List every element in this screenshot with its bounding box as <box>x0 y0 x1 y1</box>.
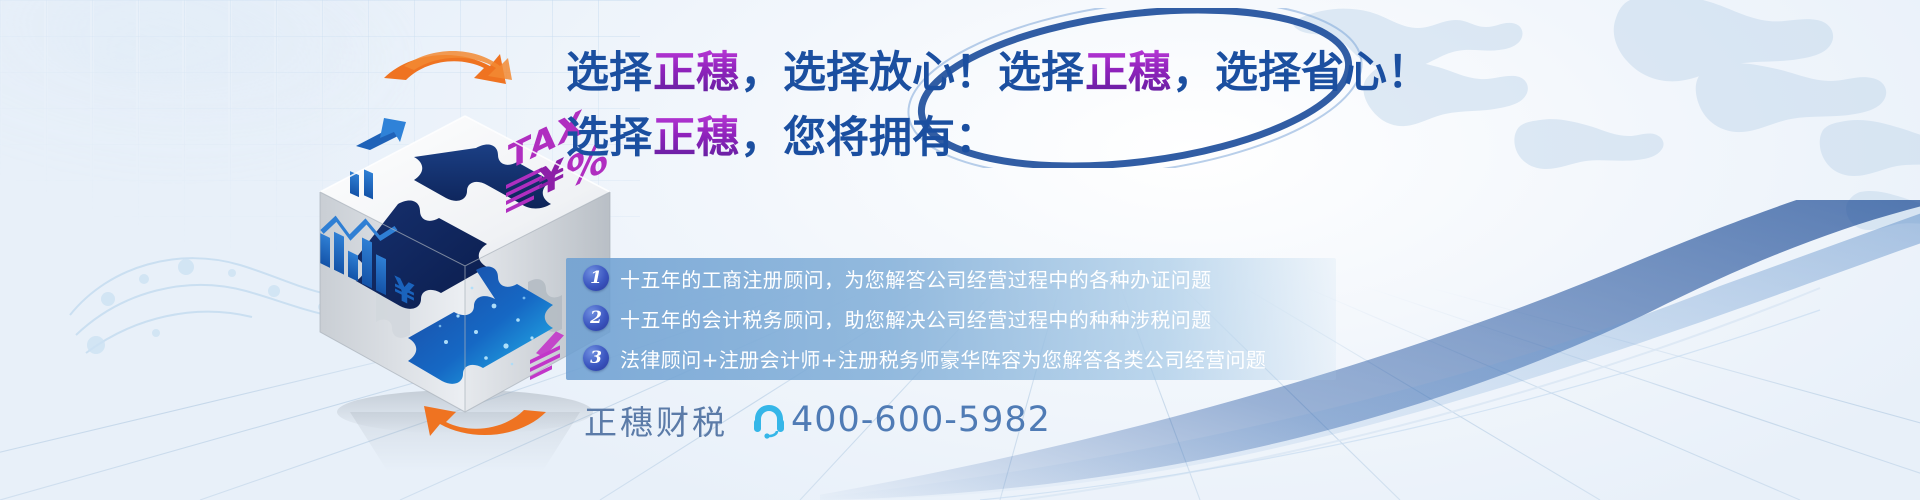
world-map-decoration <box>1240 0 1920 300</box>
benefit-number-1: 1 <box>583 265 609 291</box>
benefit-text-3: 法律顾问+注册会计师+注册税务师豪华阵容为您解答各类公司经营问题 <box>620 344 1266 373</box>
headline-1-seg-2: ，选择放心！ <box>740 48 998 98</box>
phone-group[interactable]: 400-600-5982 <box>750 400 1051 440</box>
benefit-text-2: 十五年的会计税务顾问，助您解决公司经营过程中的种种涉税问题 <box>620 304 1212 333</box>
headline-block: 选择正穗，选择放心！选择正穗，选择省心！ 选择正穗，您将拥有： <box>566 52 1326 160</box>
benefit-number-3: 3 <box>583 345 609 371</box>
phone-number[interactable]: 400-600-5982 <box>791 400 1051 440</box>
promo-banner: ¥ TAX ¥ % <box>0 0 1920 500</box>
company-name: 正穗财税 <box>584 396 728 444</box>
headline-2-seg-1: 选择 <box>566 113 652 163</box>
contact-footer: 正穗财税 400-600-5982 <box>584 396 1051 444</box>
headline-line-2: 选择正穗，您将拥有： <box>566 117 1326 160</box>
headline-line-1: 选择正穗，选择放心！选择正穗，选择省心！ <box>566 52 1326 95</box>
benefit-text-1: 十五年的工商注册顾问，为您解答公司经营过程中的各种办证问题 <box>620 264 1212 293</box>
headline-2-brand-1: 正穗 <box>652 113 740 163</box>
benefit-item-2: 2 十五年的会计税务顾问，助您解决公司经营过程中的种种涉税问题 <box>566 298 1336 338</box>
benefits-panel: 1 十五年的工商注册顾问，为您解答公司经营过程中的各种办证问题 2 十五年的会计… <box>566 258 1336 380</box>
headline-1-seg-4: ，选择省心！ <box>1172 48 1430 98</box>
benefit-item-1: 1 十五年的工商注册顾问，为您解答公司经营过程中的各种办证问题 <box>566 258 1336 298</box>
headline-1-seg-3: 选择 <box>998 48 1084 98</box>
benefit-number-2: 2 <box>583 305 609 331</box>
headline-1-seg-1: 选择 <box>566 48 652 98</box>
headline-1-brand-2: 正穗 <box>1084 48 1172 98</box>
headline-1-brand-1: 正穗 <box>652 48 740 98</box>
benefit-item-3: 3 法律顾问+注册会计师+注册税务师豪华阵容为您解答各类公司经营问题 <box>566 338 1336 378</box>
headline-2-seg-2: ，您将拥有： <box>740 113 998 163</box>
headset-icon <box>750 401 788 439</box>
